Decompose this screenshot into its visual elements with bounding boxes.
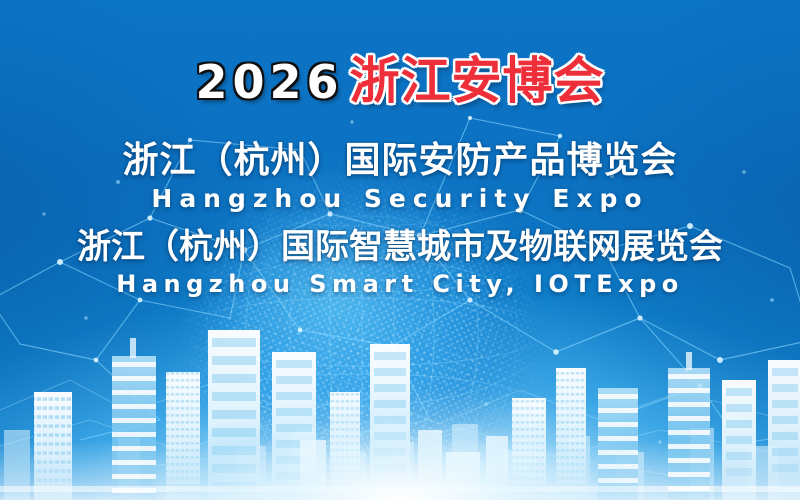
- expo-poster: 2026浙江安博会 浙江（杭州）国际安防产品博览会 Hangzhou Secur…: [0, 0, 800, 500]
- horizon-glow: [0, 0, 800, 500]
